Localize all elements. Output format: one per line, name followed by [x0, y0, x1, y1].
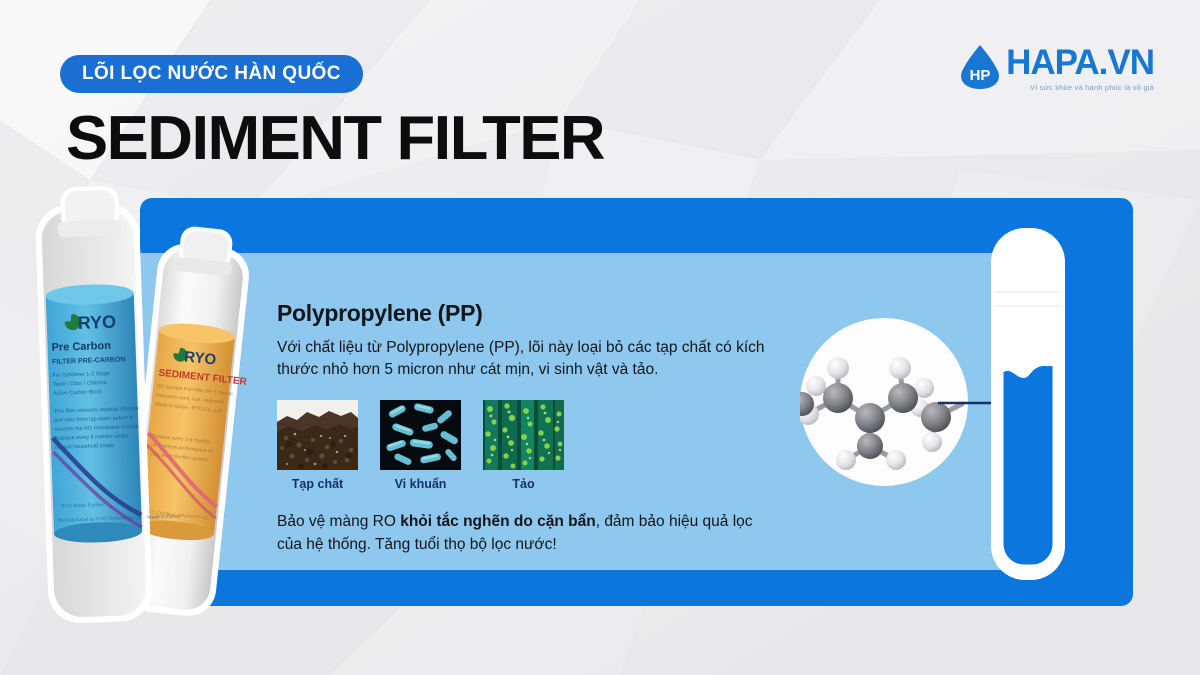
thumbnail-item: Tảo [483, 400, 564, 491]
benefit-block: Bảo vệ màng RO khỏi tắc nghẽn do cặn bẩn… [277, 510, 777, 557]
benefit-paragraph: Bảo vệ màng RO khỏi tắc nghẽn do cặn bẩn… [277, 510, 777, 557]
svg-text:Pre Carbon: Pre Carbon [51, 340, 111, 354]
logo-wordmark: HAPA.VN [1006, 46, 1154, 80]
bacteria-microscope-photo [380, 400, 461, 470]
svg-text:HP: HP [970, 67, 991, 84]
infographic-canvas: LÕI LỌC NƯỚC HÀN QUỐC SEDIMENT FILTER HP… [0, 0, 1200, 675]
algae-photo [483, 400, 564, 470]
content-block: Polypropylene (PP) Với chất liệu từ Poly… [277, 300, 777, 382]
thumbnail-caption: Tạp chất [292, 477, 343, 491]
sediment-filter-cartridge-diagram [985, 228, 1071, 580]
description-paragraph: Với chất liệu từ Polypropylene (PP), lõi… [277, 337, 777, 382]
benefit-text-pre: Bảo vệ màng RO [277, 513, 400, 530]
contaminant-thumbnails: Tạp chất [277, 400, 564, 491]
page-title: SEDIMENT FILTER [66, 108, 604, 170]
logo-tagline: Vì sức khỏe và hạnh phúc là vô giá [1030, 83, 1154, 92]
brand-logo[interactable]: HP HAPA.VN Vì sức khỏe và hạnh phúc là v… [958, 44, 1154, 92]
water-drop-icon: HP [958, 44, 1002, 90]
svg-text:RYO: RYO [183, 348, 217, 368]
ryo-filter-cartridges-photo: RYO SEDIMENT FILTER RO System Pre-Filter… [28, 186, 263, 638]
thumbnail-caption: Tảo [512, 477, 534, 491]
soil-sediment-photo [277, 400, 358, 470]
thumbnail-caption: Vi khuẩn [395, 477, 447, 491]
svg-text:RYO: RYO [77, 312, 116, 333]
category-badge: LÕI LỌC NƯỚC HÀN QUỐC [60, 55, 363, 93]
benefit-text-highlight: khỏi tắc nghẽn do cặn bẩn [400, 513, 596, 530]
thumbnail-item: Vi khuẩn [380, 400, 461, 491]
thumbnail-item: Tạp chất [277, 400, 358, 491]
section-title: Polypropylene (PP) [277, 300, 777, 327]
